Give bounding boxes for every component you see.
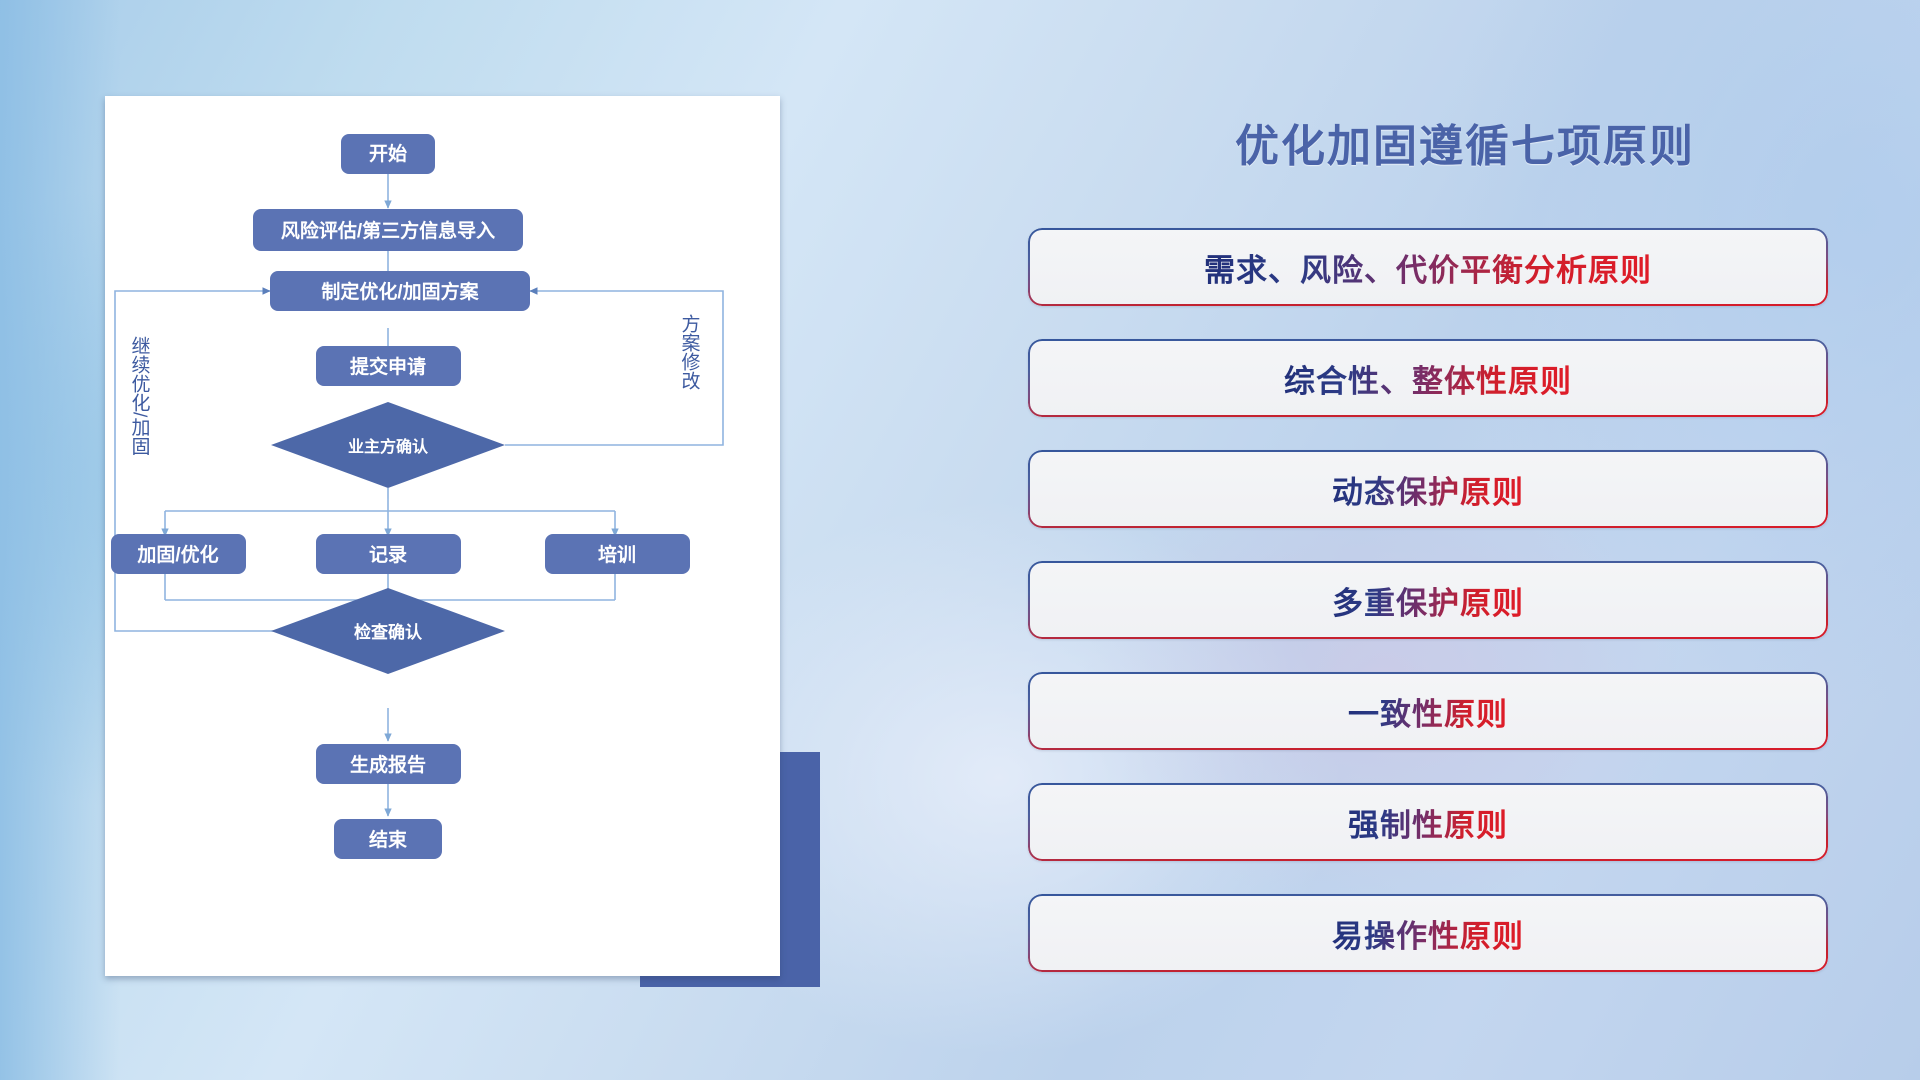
flow-edge-label-continue-optimize-text: 继续优化/加固: [129, 336, 151, 456]
principles-panel: 优化加固遵循七项原则 需求、风险、代价平衡分析原则 综合性、整体性原则 动态保护…: [1010, 0, 1920, 1080]
principle-label-4: 多重保护原则: [1332, 578, 1524, 623]
flow-node-record[interactable]: 记录: [316, 534, 461, 574]
principle-card-2[interactable]: 综合性、整体性原则: [1028, 339, 1828, 417]
flow-node-risk-assessment-label: 风险评估/第三方信息导入: [281, 219, 495, 242]
flow-node-training-label: 培训: [598, 543, 636, 566]
flow-connectors: [115, 173, 723, 816]
flow-node-end-label: 结束: [369, 828, 408, 851]
flow-node-submit[interactable]: 提交申请: [316, 346, 461, 386]
flowchart-diagram: 开始 风险评估/第三方信息导入 制定优化/加固方案 提交申请 业主方确认 加固/…: [105, 96, 780, 976]
flow-node-start-label: 开始: [369, 142, 407, 165]
flow-node-report[interactable]: 生成报告: [316, 744, 461, 784]
flow-node-plan-label: 制定优化/加固方案: [321, 280, 479, 303]
flow-node-training[interactable]: 培训: [545, 534, 690, 574]
flow-node-start[interactable]: 开始: [341, 134, 435, 174]
flow-node-plan[interactable]: 制定优化/加固方案: [270, 271, 530, 311]
flow-node-owner-confirm[interactable]: 业主方确认: [271, 402, 505, 488]
principle-label-5: 一致性原则: [1348, 689, 1508, 734]
flow-edge-label-continue-optimize: 继续优化/加固: [129, 336, 151, 456]
flow-edge-label-plan-revision: 方案修改: [679, 314, 701, 390]
principle-label-1: 需求、风险、代价平衡分析原则: [1204, 245, 1652, 290]
flow-edge-label-plan-revision-text: 方案修改: [679, 314, 701, 390]
flow-node-report-label: 生成报告: [350, 753, 426, 776]
principle-card-6[interactable]: 强制性原则: [1028, 783, 1828, 861]
principle-label-6: 强制性原则: [1348, 800, 1508, 845]
flow-node-owner-confirm-label: 业主方确认: [348, 437, 429, 456]
flow-node-check-confirm[interactable]: 检查确认: [271, 588, 505, 674]
principle-card-3[interactable]: 动态保护原则: [1028, 450, 1828, 528]
flow-node-risk-assessment[interactable]: 风险评估/第三方信息导入: [253, 209, 523, 251]
flow-node-submit-label: 提交申请: [350, 355, 426, 378]
flow-node-reinforce[interactable]: 加固/优化: [111, 534, 246, 574]
flow-node-reinforce-label: 加固/优化: [136, 543, 218, 566]
flow-node-record-label: 记录: [369, 544, 407, 566]
principles-title: 优化加固遵循七项原则: [1010, 110, 1920, 174]
principle-label-3: 动态保护原则: [1332, 467, 1524, 512]
flowchart-panel: 开始 风险评估/第三方信息导入 制定优化/加固方案 提交申请 业主方确认 加固/…: [0, 0, 860, 1080]
principle-card-7[interactable]: 易操作性原则: [1028, 894, 1828, 972]
principle-card-1[interactable]: 需求、风险、代价平衡分析原则: [1028, 228, 1828, 306]
principles-list: 需求、风险、代价平衡分析原则 综合性、整体性原则 动态保护原则 多重保护原则 一…: [1028, 228, 1908, 1005]
principle-label-2: 综合性、整体性原则: [1284, 356, 1572, 401]
principle-card-5[interactable]: 一致性原则: [1028, 672, 1828, 750]
principle-card-4[interactable]: 多重保护原则: [1028, 561, 1828, 639]
flow-node-check-confirm-label: 检查确认: [354, 622, 423, 642]
flow-node-end[interactable]: 结束: [334, 819, 442, 859]
principle-label-7: 易操作性原则: [1332, 911, 1524, 956]
